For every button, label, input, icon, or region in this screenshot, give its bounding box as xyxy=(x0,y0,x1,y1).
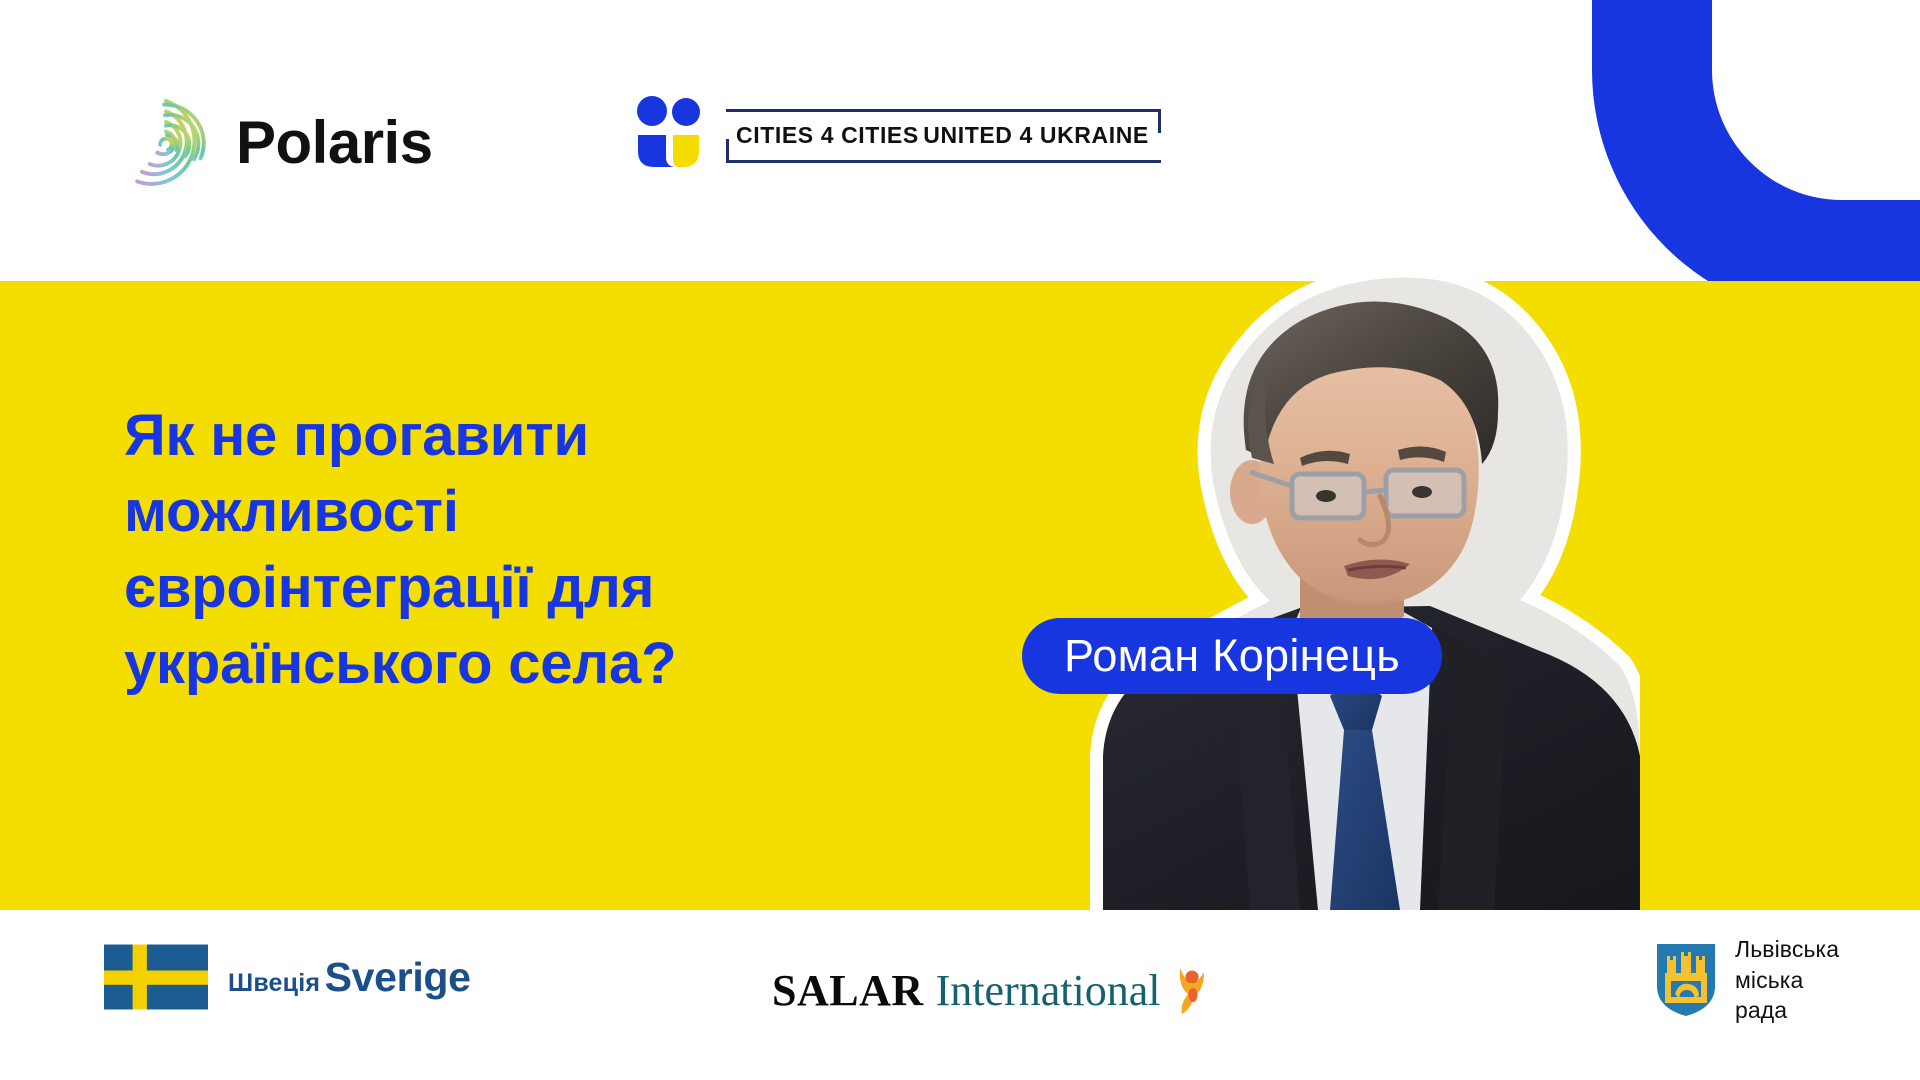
polaris-logo[interactable]: Polaris xyxy=(118,95,433,191)
salar-name-regular: International xyxy=(936,965,1161,1016)
lviv-text-block: Львівська міська рада xyxy=(1735,934,1839,1026)
two-people-icon xyxy=(632,95,704,177)
lviv-city-council-logo[interactable]: Львівська міська рада xyxy=(1655,934,1839,1026)
sweden-name-sv: Sverige xyxy=(325,954,471,1000)
salar-international-logo[interactable]: SALAR International xyxy=(772,964,1212,1016)
sweden-logo[interactable]: Швеція Sverige xyxy=(104,944,471,1010)
footer: Швеція Sverige SALAR International xyxy=(0,910,1920,1080)
polaris-wordmark: Polaris xyxy=(236,113,433,173)
lviv-coat-of-arms-icon xyxy=(1655,942,1717,1018)
headline-line-3: євроінтеграції для xyxy=(124,550,914,626)
lviv-line-2: міська xyxy=(1735,965,1839,996)
salar-name-bold: SALAR xyxy=(772,965,924,1016)
cities4cities-text-block: CITIES 4 CITIES UNITED 4 UKRAINE xyxy=(726,109,1161,163)
headline-line-2: можливості xyxy=(124,474,914,550)
sweden-text-block: Швеція Sverige xyxy=(228,957,471,998)
cities4cities-logo[interactable]: CITIES 4 CITIES UNITED 4 UKRAINE xyxy=(632,95,1161,177)
cities4cities-line2: UNITED 4 UKRAINE xyxy=(923,122,1149,148)
polaris-spiral-icon xyxy=(118,95,214,191)
salar-figure-icon xyxy=(1172,964,1212,1016)
lviv-line-3: рада xyxy=(1735,995,1839,1026)
promo-card: Polaris CITIES 4 CITIES UNITED 4 UKRAINE… xyxy=(0,0,1920,1080)
headline: Як не прогавити можливості євроінтеграці… xyxy=(124,398,914,702)
cities4cities-line1: CITIES 4 CITIES xyxy=(736,122,919,148)
sweden-flag-icon xyxy=(104,944,208,1010)
sweden-name-uk: Швеція xyxy=(228,969,320,997)
c4c-rule-left xyxy=(726,139,729,163)
c4c-rule-right xyxy=(1158,109,1161,133)
headline-line-1: Як не прогавити xyxy=(124,398,914,474)
lviv-line-1: Львівська xyxy=(1735,934,1839,965)
speaker-name-badge: Роман Корінець xyxy=(1022,618,1442,694)
headline-line-4: українського села? xyxy=(124,626,914,702)
speaker-portrait xyxy=(1000,196,1640,910)
